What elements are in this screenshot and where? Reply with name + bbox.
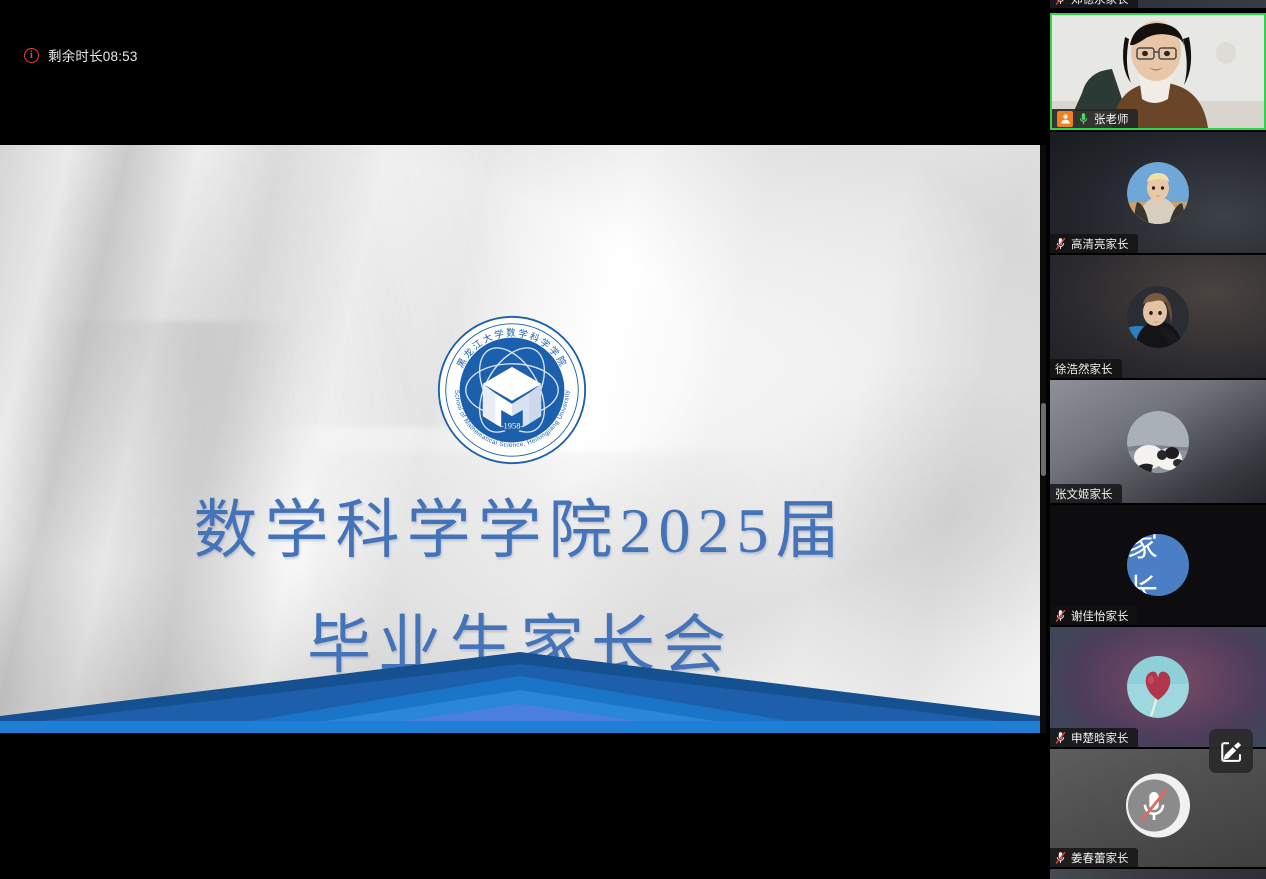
info-circle-icon: i	[24, 48, 39, 63]
meeting-window: i 剩余时长08:53	[0, 0, 1266, 879]
participant-name-badge: 徐浩然家长	[1050, 359, 1122, 378]
microphone-muted-icon	[1055, 609, 1066, 623]
microphone-muted-icon	[1055, 851, 1066, 865]
participant-name: 郑德永家长	[1071, 0, 1129, 7]
participant-background	[1050, 869, 1266, 879]
muted-avatar-overlay	[1125, 773, 1191, 844]
participant-tile[interactable]: 高清亮家长	[1050, 132, 1266, 253]
participant-name-badge: 郑德永家长	[1050, 0, 1138, 8]
shared-screen-slide[interactable]: -1958- 黑龙江大学数学科学学院 School of Mathematica…	[0, 145, 1040, 733]
participant-name-badge: 姜春蕾家长	[1050, 848, 1138, 867]
below-share-area	[0, 733, 1046, 879]
remaining-time-label: 剩余时长08:53	[48, 45, 138, 65]
participant-name: 姜春蕾家长	[1071, 850, 1129, 866]
host-badge-icon	[1057, 111, 1073, 127]
slide-title-line-1: 数学科学学院2025届	[0, 499, 1040, 563]
participant-name: 申楚晗家长	[1071, 730, 1129, 746]
slide-chevron-decoration	[0, 608, 1040, 733]
participant-tile[interactable]	[1050, 869, 1266, 879]
participant-name: 张文姬家长	[1055, 486, 1113, 502]
participant-tile[interactable]: 郑德永家长	[1050, 0, 1266, 8]
annotate-icon	[1219, 739, 1244, 764]
microphone-muted-icon	[1055, 0, 1066, 6]
meeting-top-bar: i 剩余时长08:53	[0, 0, 1046, 145]
svg-text:-1958-: -1958-	[501, 421, 524, 431]
participant-name-badge: 申楚晗家长	[1050, 728, 1138, 747]
university-logo: -1958- 黑龙江大学数学科学学院 School of Mathematica…	[435, 313, 589, 467]
participant-name: 徐浩然家长	[1055, 361, 1113, 377]
participant-name: 张老师	[1094, 111, 1129, 127]
participant-tile-host[interactable]: 张老师	[1050, 13, 1266, 130]
microphone-muted-icon	[1055, 731, 1066, 745]
participant-tile[interactable]: 徐浩然家长	[1050, 255, 1266, 378]
microphone-on-icon	[1078, 112, 1089, 126]
participant-tile[interactable]: 家长 谢佳怡家长	[1050, 505, 1266, 625]
avatar	[1127, 656, 1189, 718]
participant-name-badge: 张文姬家长	[1050, 484, 1122, 503]
avatar	[1127, 162, 1189, 224]
participant-name-badge: 谢佳怡家长	[1050, 606, 1138, 625]
participant-tile[interactable]: 张文姬家长	[1050, 380, 1266, 503]
annotate-button[interactable]	[1209, 729, 1253, 773]
avatar	[1127, 286, 1189, 348]
avatar	[1127, 411, 1189, 473]
participant-name: 谢佳怡家长	[1071, 608, 1129, 624]
remaining-time-notice: i 剩余时长08:53	[24, 45, 138, 65]
participant-name: 高清亮家长	[1071, 236, 1129, 252]
avatar-initials: 家长	[1127, 534, 1189, 596]
microphone-muted-icon	[1055, 237, 1066, 251]
participant-name-badge: 张老师	[1052, 109, 1138, 128]
participant-name-badge: 高清亮家长	[1050, 234, 1138, 253]
